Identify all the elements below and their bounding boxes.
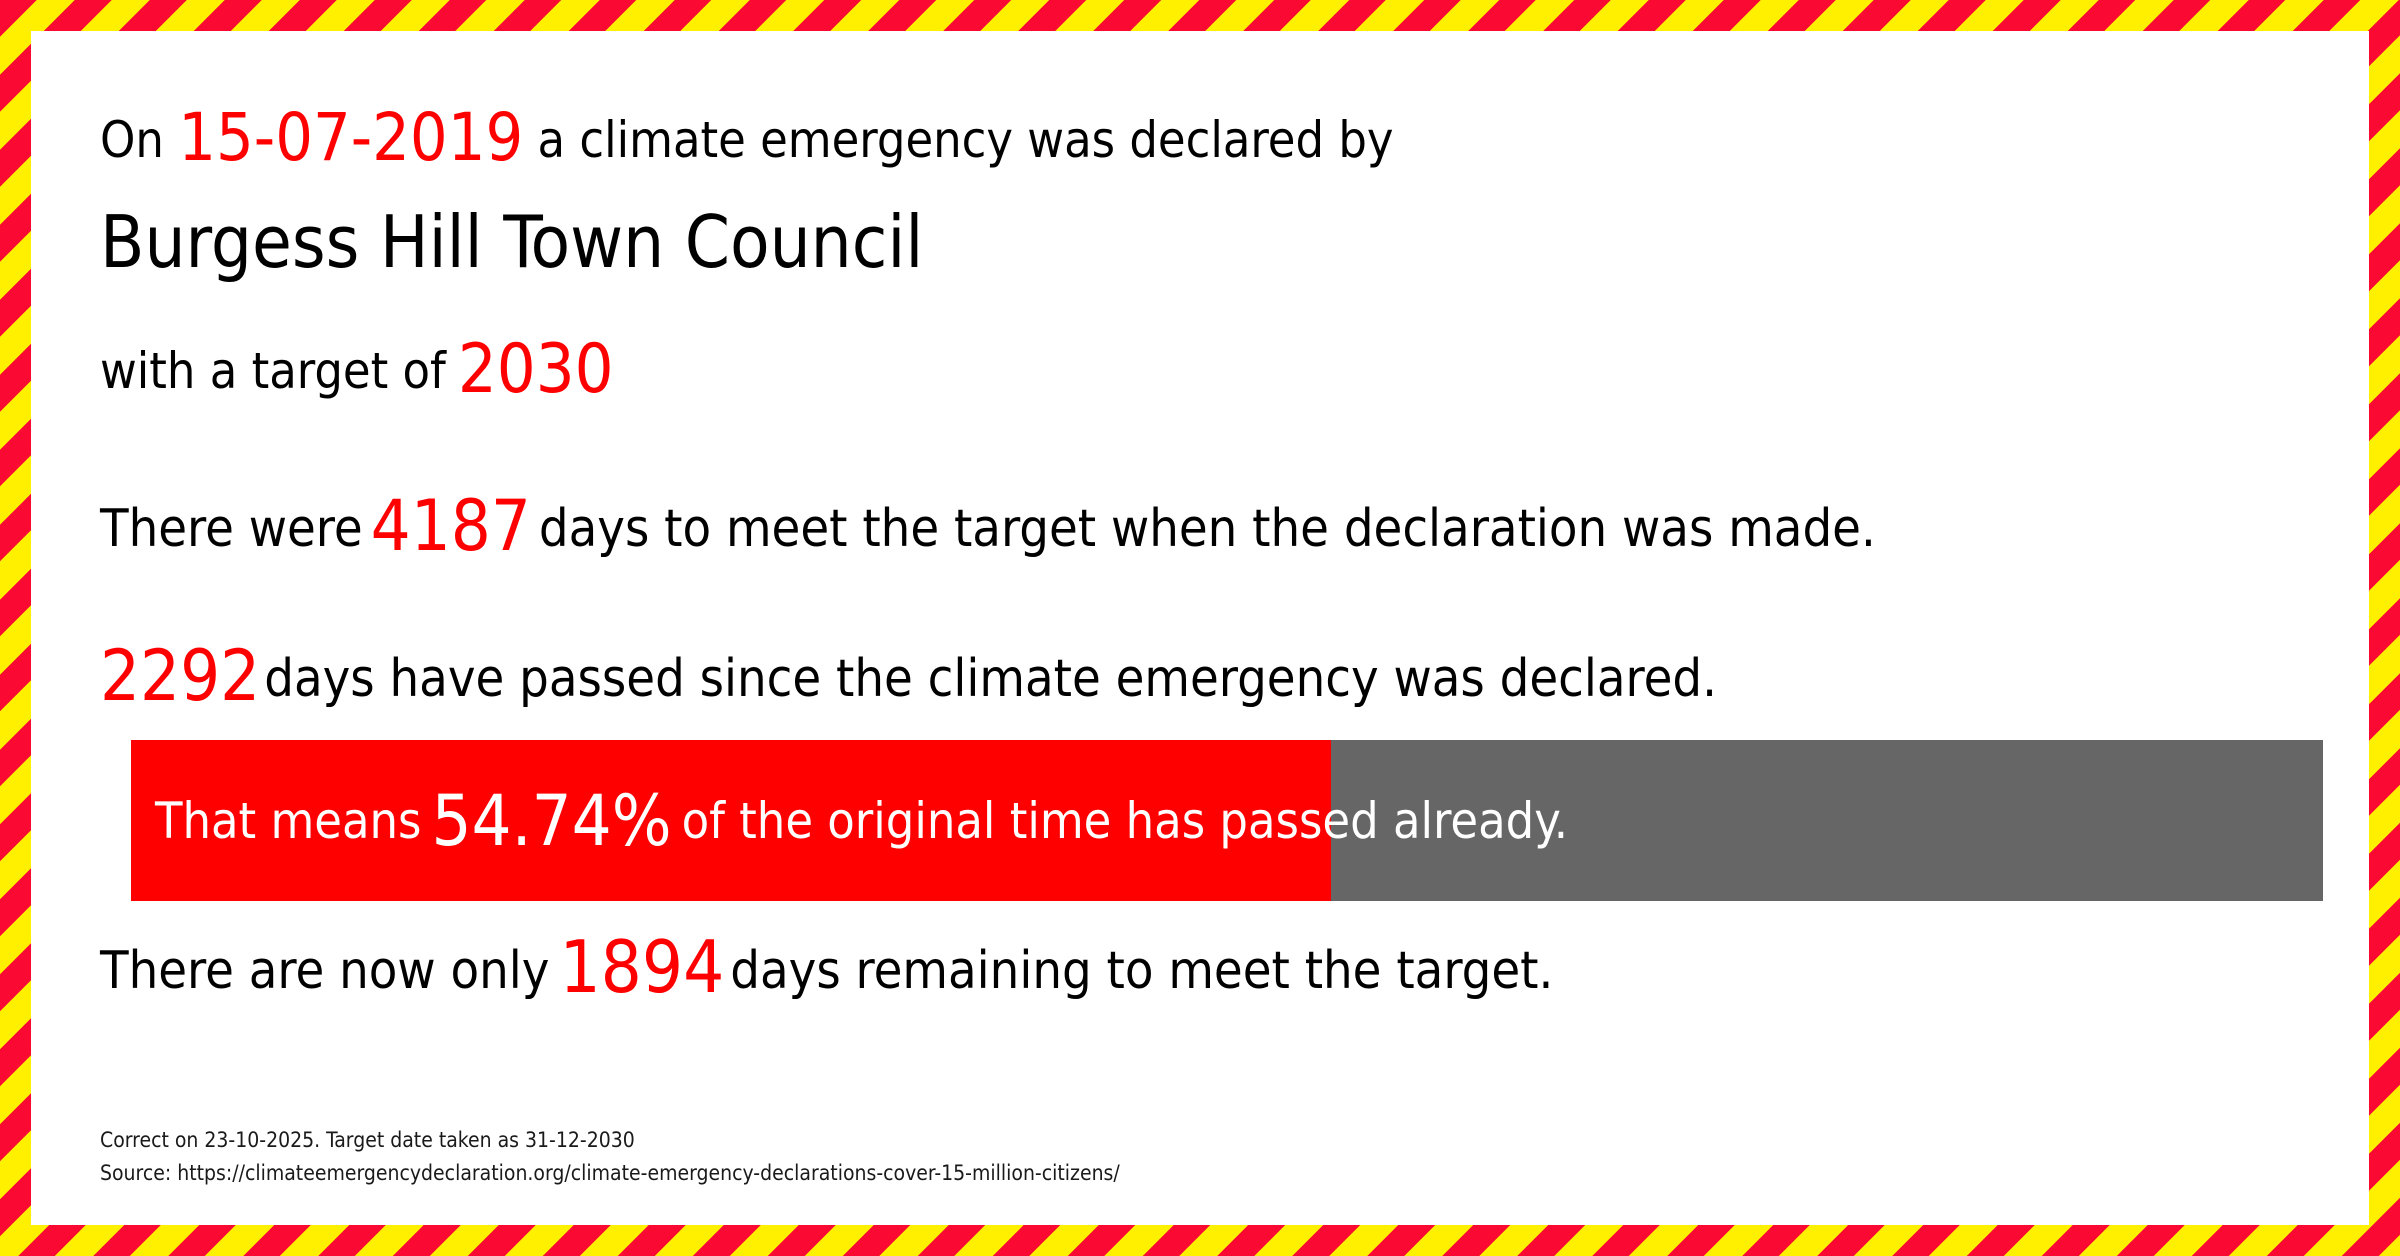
- content-area: On 15-07-2019 a climate emergency was de…: [100, 31, 2329, 1225]
- time-progress-label: That means 54.74% of the original time h…: [155, 740, 1568, 901]
- footnote-correct-on: Correct on 23-10-2025. Target date taken…: [100, 1124, 1120, 1157]
- original-prefix: There were: [100, 499, 363, 559]
- target-year: 2030: [458, 330, 614, 409]
- declaration-line: On 15-07-2019 a climate emergency was de…: [100, 105, 1394, 171]
- target-prefix: with a target of: [100, 342, 446, 400]
- footnote: Correct on 23-10-2025. Target date taken…: [100, 1124, 1120, 1189]
- remaining-suffix: days remaining to meet the target.: [730, 941, 1553, 1001]
- declaration-prefix: On: [100, 111, 164, 169]
- original-suffix: days to meet the target when the declara…: [539, 499, 1876, 559]
- progress-suffix: of the original time has passed already.: [682, 792, 1568, 850]
- hazard-frame: On 15-07-2019 a climate emergency was de…: [0, 0, 2400, 1256]
- declaration-date: 15-07-2019: [178, 99, 523, 176]
- progress-percent: 54.74%: [431, 780, 671, 862]
- elapsed-suffix: days have passed since the climate emerg…: [264, 649, 1717, 709]
- card-body: On 15-07-2019 a climate emergency was de…: [31, 31, 2369, 1225]
- elapsed-days-value: 2292: [100, 635, 260, 717]
- declaration-suffix: a climate emergency was declared by: [538, 111, 1394, 169]
- remaining-days-value: 1894: [559, 925, 724, 1009]
- original-days-line: There were4187days to meet the target wh…: [100, 491, 1876, 561]
- target-line: with a target of2030: [100, 336, 614, 404]
- authority-name: Burgess Hill Town Council: [100, 206, 923, 278]
- footnote-source: Source: https://climateemergencydeclarat…: [100, 1157, 1120, 1190]
- time-progress-bar: That means 54.74% of the original time h…: [131, 740, 2323, 901]
- progress-prefix: That means: [155, 792, 421, 850]
- elapsed-days-line: 2292days have passed since the climate e…: [100, 641, 1717, 711]
- original-days-value: 4187: [371, 485, 531, 567]
- remaining-prefix: There are now only: [100, 941, 549, 1001]
- remaining-days-line: There are now only1894days remaining to …: [100, 931, 1553, 1003]
